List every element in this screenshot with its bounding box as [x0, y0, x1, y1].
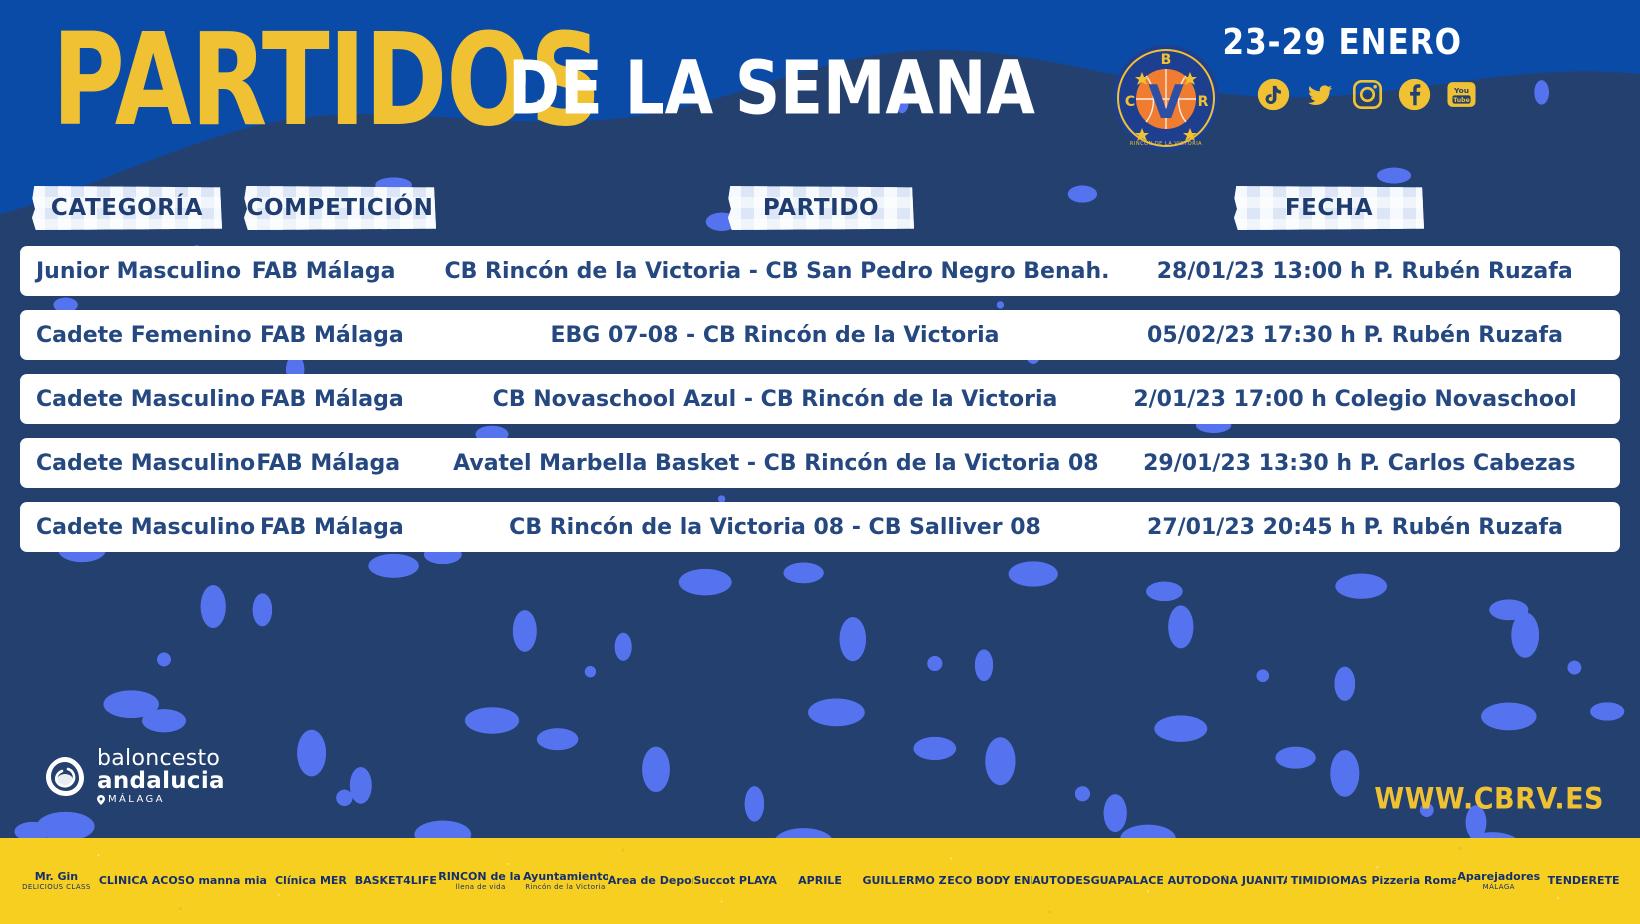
- sponsor-logo[interactable]: CLÍNICA ACOSTA: [99, 875, 184, 888]
- sponsor-sub: Rincón de la Victoria: [523, 883, 608, 891]
- sponsor-name: AUTODESGUACE C.A.T. LA MINA: [1032, 875, 1117, 887]
- column-headers: CATEGORÍA COMPETICIÓN PARTIDO FECHA: [0, 186, 1640, 240]
- baloncesto-andalucia-logo: baloncesto andalucia MÁLAGA: [42, 748, 225, 805]
- sponsor-logo[interactable]: AparejadoresMÁLAGA: [1456, 871, 1541, 892]
- sponsor-name: CLÍNICA ACOSTA: [99, 875, 184, 887]
- column-header-partido: PARTIDO: [728, 186, 914, 230]
- cell-competicion: FAB Málaga: [256, 451, 453, 476]
- instagram-icon[interactable]: [1351, 78, 1384, 111]
- match-table: Junior Masculino FAB Málaga CB Rincón de…: [20, 246, 1620, 566]
- sponsor-sub: DELICIOUS CLASS: [14, 883, 99, 891]
- cell-partido: EBG 07-08 - CB Rincón de la Victoria: [460, 323, 1090, 348]
- sponsor-logo[interactable]: ECO BODY ENERGY: [947, 875, 1032, 888]
- column-header-fecha: FECHA: [1234, 186, 1424, 230]
- table-row[interactable]: Cadete Masculino FAB Málaga Avatel Marbe…: [20, 438, 1620, 488]
- sponsor-logo[interactable]: AUTODESGUACE C.A.T. LA MINA: [1032, 875, 1117, 888]
- sponsor-strip: Mr. GinDELICIOUS CLASS CLÍNICA ACOSTA O …: [0, 838, 1640, 924]
- sponsor-name: DOÑA JUANITA: [1202, 875, 1287, 887]
- sponsor-name: RINCÓN de la VICTORIA: [438, 871, 523, 883]
- cell-categoria: Cadete Masculino: [20, 387, 260, 412]
- sponsor-logo[interactable]: Succot PLAYA: [693, 875, 778, 888]
- website-url[interactable]: WWW.CBRV.ES: [1374, 782, 1604, 816]
- page-title-rest: DE LA SEMANA: [508, 52, 1035, 126]
- club-crest-logo: B C R V RINCON DE LA VICTORIA: [1112, 44, 1220, 152]
- sponsor-name: O manna mia: [185, 875, 267, 887]
- location-pin-icon: [97, 795, 105, 805]
- sponsor-name: Pizzeria Romana: [1372, 875, 1457, 887]
- sponsor-logo[interactable]: O manna mia: [184, 875, 269, 888]
- cell-fecha: 28/01/23 13:00 h P. Rubén Ruzafa: [1109, 259, 1620, 284]
- facebook-icon[interactable]: [1398, 78, 1431, 111]
- sponsor-logo[interactable]: TIMIDIOMAS: [1287, 875, 1372, 888]
- cell-competicion: FAB Málaga: [260, 323, 460, 348]
- sponsor-name: APRILE: [798, 875, 842, 887]
- sponsor-logo[interactable]: AyuntamientoRincón de la Victoria: [523, 871, 608, 892]
- sponsor-logo[interactable]: Pizzeria Romana: [1372, 875, 1457, 888]
- svg-text:B: B: [1161, 52, 1172, 68]
- svg-text:RINCON DE LA VICTORIA: RINCON DE LA VICTORIA: [1130, 141, 1202, 147]
- sponsor-name: PALACE AUTO: [1117, 875, 1201, 887]
- andalucia-swirl-icon: [42, 754, 88, 800]
- cell-partido: CB Novaschool Azul - CB Rincón de la Vic…: [460, 387, 1090, 412]
- table-row[interactable]: Junior Masculino FAB Málaga CB Rincón de…: [20, 246, 1620, 296]
- sponsor-name: GUILLERMO ZIANO: [862, 875, 947, 887]
- column-header-categoria: CATEGORÍA: [32, 186, 222, 230]
- week-range-label: 23-29 ENERO: [1223, 22, 1462, 63]
- sponsor-sub: llena de vida: [438, 883, 523, 891]
- poster-header: PARTIDOS DE LA SEMANA B C R V RINCON DE …: [0, 0, 1640, 170]
- table-row[interactable]: Cadete Femenino FAB Málaga EBG 07-08 - C…: [20, 310, 1620, 360]
- sponsor-name: Succot PLAYA: [693, 875, 776, 887]
- sponsor-name: Ayuntamiento: [523, 871, 608, 883]
- cell-categoria: Junior Masculino: [20, 259, 252, 284]
- svg-text:C: C: [1125, 94, 1135, 110]
- sponsor-name: Clínica MER: [275, 875, 347, 887]
- column-header-competicion: COMPETICIÓN: [244, 186, 436, 230]
- tiktok-icon[interactable]: [1257, 78, 1290, 111]
- cell-partido: Avatel Marbella Basket - CB Rincón de la…: [453, 451, 1098, 476]
- federation-region: MÁLAGA: [97, 795, 225, 805]
- federation-name-line2: andalucia: [97, 770, 225, 793]
- youtube-icon[interactable]: You Tube: [1445, 78, 1478, 111]
- sponsor-name: BASKET4LIFE: [355, 875, 437, 887]
- svg-text:R: R: [1198, 94, 1209, 110]
- sponsor-name: ECO BODY ENERGY: [947, 875, 1032, 887]
- sponsor-sub: MÁLAGA: [1456, 883, 1541, 891]
- federation-name-line1: baloncesto: [97, 748, 225, 770]
- cell-fecha: 29/01/23 13:30 h P. Carlos Cabezas: [1099, 451, 1620, 476]
- social-links: You Tube: [1257, 78, 1478, 111]
- sponsor-logo[interactable]: PALACE AUTO: [1117, 875, 1202, 888]
- cell-partido: CB Rincón de la Victoria 08 - CB Sallive…: [460, 515, 1090, 540]
- cell-categoria: Cadete Femenino: [20, 323, 260, 348]
- poster-root: PARTIDOS DE LA SEMANA B C R V RINCON DE …: [0, 0, 1640, 924]
- sponsor-logo[interactable]: TENDERETE: [1541, 875, 1626, 888]
- table-row[interactable]: Cadete Masculino FAB Málaga CB Novaschoo…: [20, 374, 1620, 424]
- sponsor-logo[interactable]: Clínica MER: [269, 875, 354, 888]
- sponsor-logo[interactable]: DOÑA JUANITA: [1202, 875, 1287, 888]
- sponsor-logo[interactable]: APRILE: [778, 875, 863, 888]
- cell-categoria: Cadete Masculino: [20, 515, 260, 540]
- sponsor-name: TENDERETE: [1548, 875, 1620, 887]
- sponsor-name: Mr. Gin: [35, 871, 78, 883]
- cell-competicion: FAB Málaga: [252, 259, 445, 284]
- sponsor-name: Aparejadores: [1457, 871, 1540, 883]
- sponsor-logo[interactable]: BASKET4LIFE: [353, 875, 438, 888]
- sponsor-logo[interactable]: RINCÓN de la VICTORIAllena de vida: [438, 871, 523, 892]
- cell-competicion: FAB Málaga: [260, 387, 460, 412]
- svg-text:Tube: Tube: [1453, 97, 1470, 104]
- twitter-icon[interactable]: [1304, 78, 1337, 111]
- cell-competicion: FAB Málaga: [260, 515, 460, 540]
- federation-region-label: MÁLAGA: [108, 795, 165, 805]
- cell-fecha: 27/01/23 20:45 h P. Rubén Ruzafa: [1090, 515, 1620, 540]
- cell-categoria: Cadete Masculino: [20, 451, 256, 476]
- cell-partido: CB Rincón de la Victoria - CB San Pedro …: [444, 259, 1109, 284]
- svg-text:V: V: [1148, 75, 1184, 129]
- sponsor-logo[interactable]: GUILLERMO ZIANO: [862, 875, 947, 888]
- cell-fecha: 05/02/23 17:30 h P. Rubén Ruzafa: [1090, 323, 1620, 348]
- sponsor-logo[interactable]: Mr. GinDELICIOUS CLASS: [14, 871, 99, 892]
- table-row[interactable]: Cadete Masculino FAB Málaga CB Rincón de…: [20, 502, 1620, 552]
- sponsor-logo[interactable]: Área de Deportes: [608, 875, 693, 888]
- sponsor-name: Área de Deportes: [608, 875, 693, 887]
- svg-text:You: You: [1453, 86, 1469, 95]
- cell-fecha: 2/01/23 17:00 h Colegio Novaschool: [1090, 387, 1620, 412]
- sponsor-name: TIMIDIOMAS: [1291, 875, 1368, 887]
